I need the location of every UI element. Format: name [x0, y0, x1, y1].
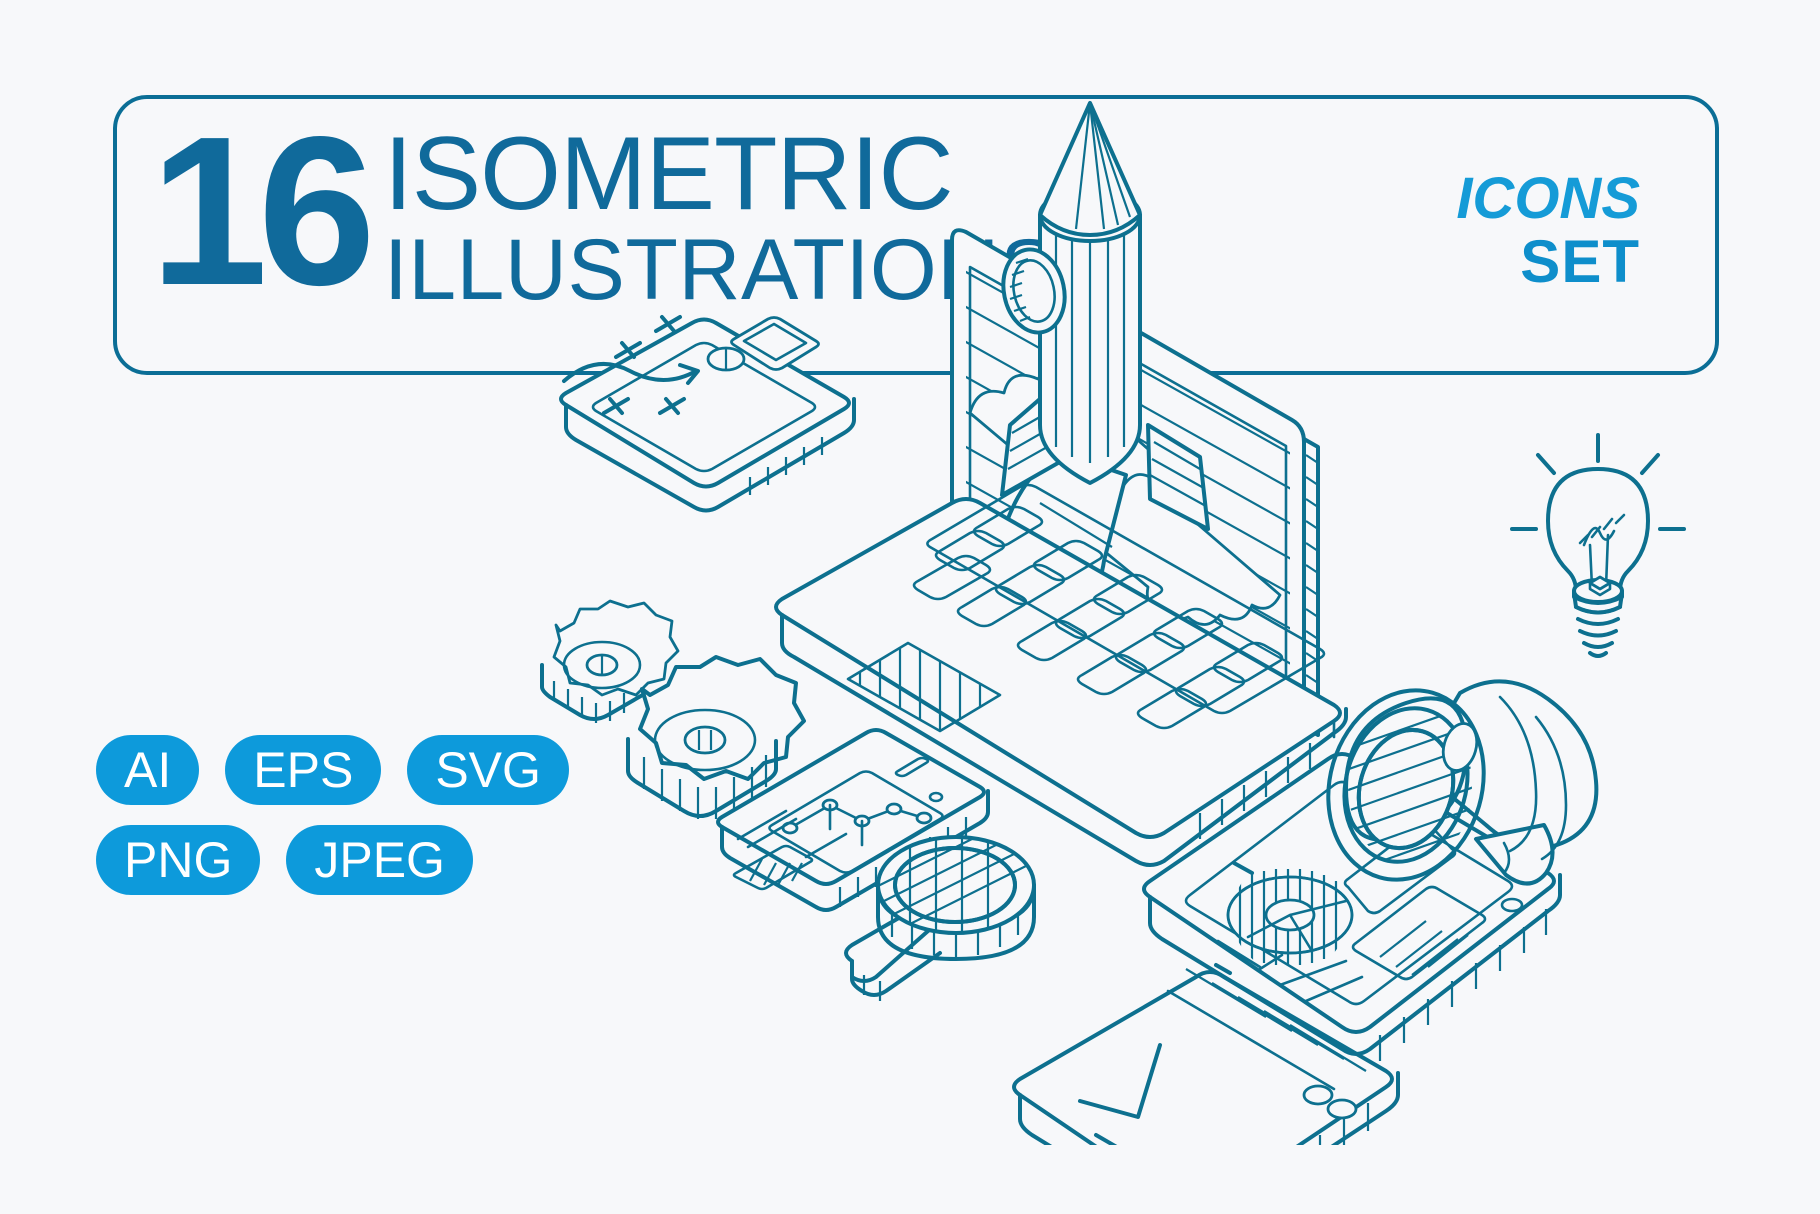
lightbulb-rays-icon — [1512, 435, 1684, 529]
lightbulb-icon — [1512, 435, 1684, 656]
format-badge-jpeg[interactable]: JPEG — [286, 825, 473, 895]
format-badge-png[interactable]: PNG — [96, 825, 260, 895]
clipboard-icon — [561, 317, 854, 511]
format-badge-eps[interactable]: EPS — [225, 735, 381, 805]
poster-canvas: 16 ISOMETRIC ILLUSTRATIONS ICONS SET AI … — [0, 0, 1820, 1214]
gears-icon — [542, 601, 804, 819]
isometric-illustration — [500, 95, 1820, 1145]
format-badge-ai[interactable]: AI — [96, 735, 199, 805]
